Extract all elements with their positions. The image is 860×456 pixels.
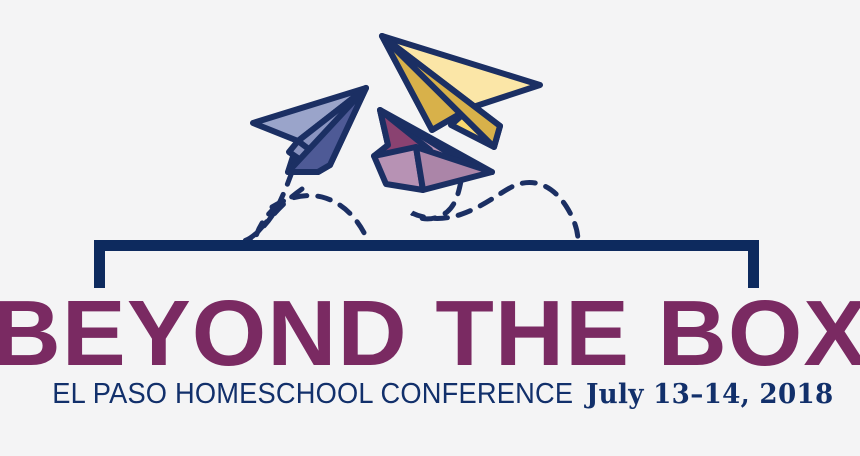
logo-artwork	[0, 0, 860, 456]
beyond-the-box-logo-banner: BEYOND THE BOX EL PASO HOMESCHOOL CONFER…	[0, 0, 860, 456]
blue-paper-plane	[253, 88, 366, 172]
open-box-bracket	[94, 240, 759, 288]
bracket-left-stub	[94, 240, 105, 288]
bracket-top-bar	[94, 240, 759, 251]
trail-center-arc	[272, 196, 368, 241]
bracket-right-stub	[748, 240, 759, 288]
trail-right-swoop	[412, 181, 578, 241]
